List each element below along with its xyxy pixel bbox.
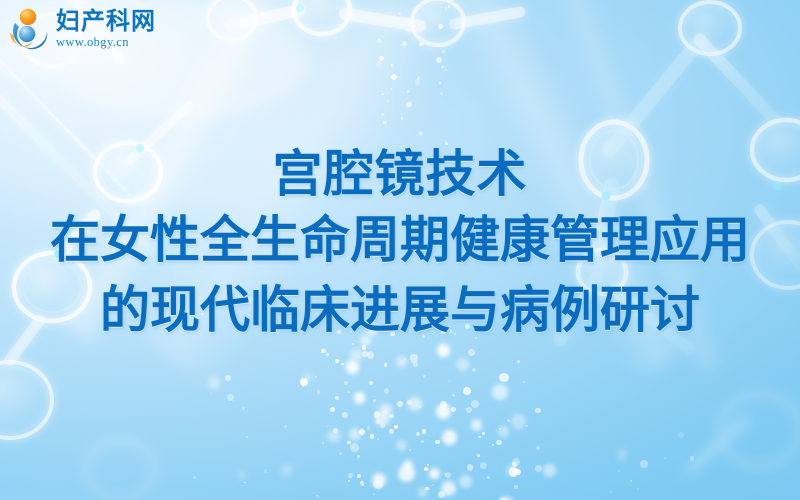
title-line-1: 宫腔镜技术 (0, 143, 800, 205)
logo-brand-name: 妇产科网 (56, 9, 156, 33)
promotional-banner: 妇产科网 www.obgy.cn 宫腔镜技术 在女性全生命周期健康管理应用 的现… (0, 0, 800, 500)
site-logo[interactable]: 妇产科网 www.obgy.cn (6, 6, 156, 54)
title-line-2: 在女性全生命周期健康管理应用 (0, 205, 800, 275)
logo-website-url: www.obgy.cn (56, 36, 156, 49)
obgy-circular-emblem-icon (6, 6, 54, 54)
banner-title: 宫腔镜技术 在女性全生命周期健康管理应用 的现代临床进展与病例研讨 (0, 143, 800, 345)
title-line-3: 的现代临床进展与病例研讨 (0, 275, 800, 345)
